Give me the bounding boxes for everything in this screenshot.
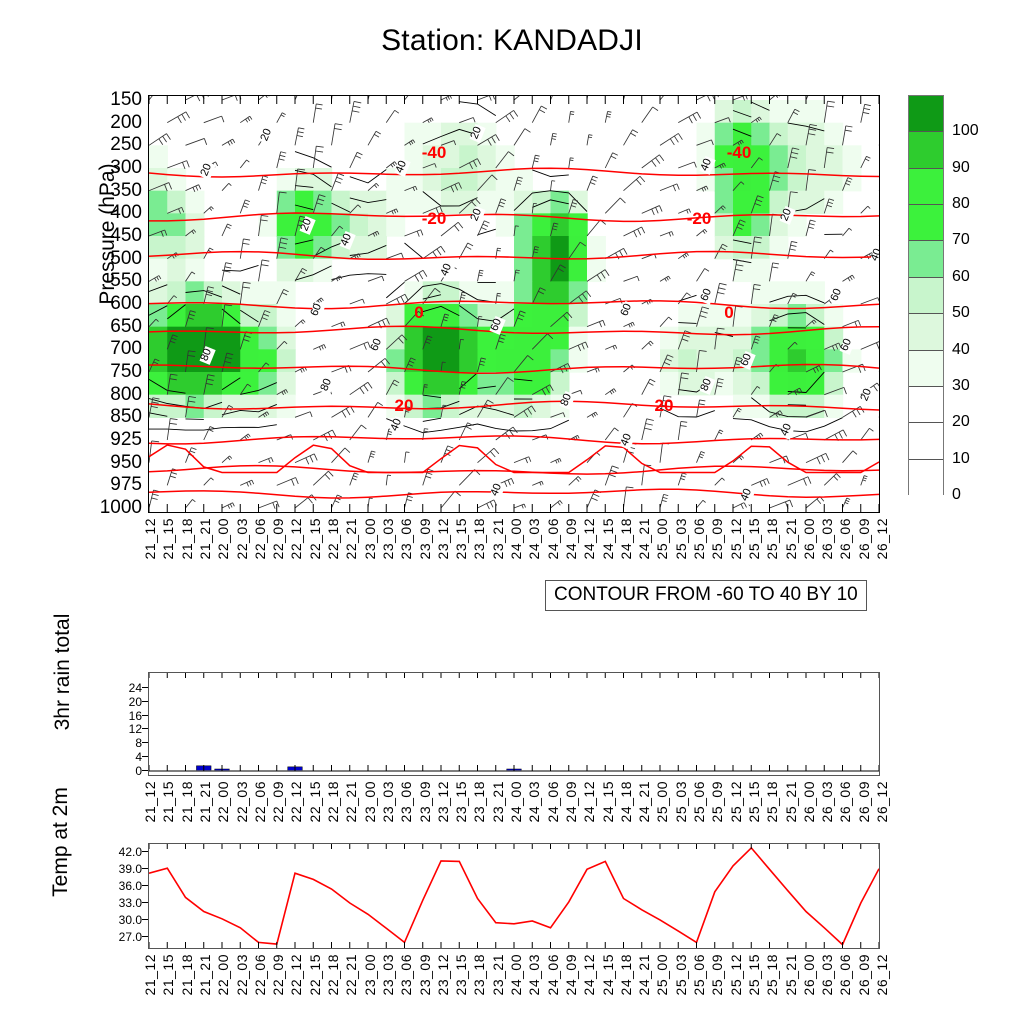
x-tick-label: 25_12 [728,518,744,559]
x-tick-label: 21_21 [197,781,213,822]
colorbar [908,95,944,495]
x-tick-label: 25_03 [673,954,689,995]
tick-mark [142,770,148,771]
tick-mark [142,715,148,716]
x-tick-label: 26_09 [856,954,872,995]
y-tick-label: 16 [96,709,142,723]
colorbar-band [909,460,943,496]
x-tick-label: 26_03 [819,954,835,995]
x-tick-label: 22_03 [234,781,250,822]
x-tick-label: 22_06 [252,954,268,995]
y-tick-label: 250 [82,134,142,156]
x-tick-label: 25_00 [654,781,670,822]
colorbar-tick-label: 20 [952,413,970,431]
y-tick-label: 350 [82,180,142,202]
x-tick-label: 26_09 [856,518,872,559]
x-tick-label: 26_12 [874,781,890,822]
x-tick-label: 21_12 [142,781,158,822]
x-tick-label: 21_12 [142,518,158,559]
x-tick-label: 26_12 [874,954,890,995]
main-y-ticks: 1502002503003504004505005506006507007508… [80,95,142,513]
x-tick-label: 25_18 [764,954,780,995]
x-tick-label: 25_15 [746,518,762,559]
x-tick-label: 21_15 [160,518,176,559]
colorbar-band [909,423,943,459]
x-tick-label: 25_06 [691,954,707,995]
y-tick-label: 450 [82,225,142,247]
y-tick-label: 975 [82,474,142,496]
x-tick-label: 24_12 [581,781,597,822]
x-tick-label: 23_12 [435,518,451,559]
y-tick-label: 42.0 [88,845,142,859]
colorbar-tick-label: 0 [952,486,961,504]
x-tick-label: 24_00 [508,518,524,559]
colorbar-tick-label: 90 [952,159,970,177]
y-tick-label: 33.0 [88,896,142,910]
y-tick-label: 500 [82,248,142,270]
rain-y-axis-label: 3hr rain total [51,607,75,737]
x-tick-label: 23_21 [490,954,506,995]
svg-text:0: 0 [724,303,733,322]
colorbar-band [909,314,943,350]
contour-legend: CONTOUR FROM -60 TO 40 BY 10 [545,580,867,611]
y-tick-label: 200 [82,112,142,134]
colorbar-tick-label: 50 [952,304,970,322]
x-tick-label: 22_00 [215,781,231,822]
x-tick-label: 24_18 [618,954,634,995]
y-tick-label: 850 [82,406,142,428]
x-tick-label: 25_21 [783,954,799,995]
svg-text:-40: -40 [422,143,447,162]
x-tick-label: 22_15 [307,518,323,559]
x-tick-label: 26_09 [856,781,872,822]
rain-plot[interactable] [148,672,880,776]
colorbar-band [909,205,943,241]
x-tick-label: 25_12 [728,781,744,822]
x-tick-label: 23_09 [417,518,433,559]
x-tick-label: 25_18 [764,781,780,822]
x-tick-label: 24_00 [508,954,524,995]
rain-x-ticks: 21_1221_1521_1821_2122_0022_0322_0622_09… [148,781,880,839]
colorbar-band [909,351,943,387]
x-tick-label: 23_06 [398,781,414,822]
tick-mark [142,936,148,937]
x-tick-label: 24_09 [563,954,579,995]
temp-x-ticks: 21_1221_1521_1821_2122_0022_0322_0622_09… [148,954,880,1012]
x-tick-label: 22_00 [215,954,231,995]
x-tick-label: 22_00 [215,518,231,559]
tick-mark [142,728,148,729]
x-tick-label: 23_18 [471,518,487,559]
y-tick-label: 600 [82,293,142,315]
x-tick-label: 25_00 [654,518,670,559]
x-tick-label: 21_15 [160,781,176,822]
tick-mark [142,687,148,688]
y-tick-label: 1000 [82,497,142,519]
x-tick-label: 23_21 [490,781,506,822]
x-tick-label: 24_15 [600,781,616,822]
y-tick-label: 20 [96,695,142,709]
y-tick-label: 650 [82,316,142,338]
y-tick-label: 39.0 [88,862,142,876]
tick-mark [142,851,148,852]
sounding-svg: 2020404020202040406060806060808080604040… [149,96,879,512]
x-tick-label: 26_06 [837,954,853,995]
tick-mark [142,902,148,903]
tick-mark [142,701,148,702]
x-tick-label: 25_03 [673,781,689,822]
x-tick-label: 24_06 [545,781,561,822]
x-tick-label: 25_09 [709,518,725,559]
x-tick-label: 22_12 [288,518,304,559]
y-tick-label: 550 [82,270,142,292]
y-tick-label: 30.0 [88,913,142,927]
x-tick-label: 24_12 [581,518,597,559]
svg-text:20: 20 [395,396,414,415]
tick-mark [142,868,148,869]
x-tick-label: 21_12 [142,954,158,995]
x-tick-label: 23_09 [417,954,433,995]
x-tick-label: 24_18 [618,518,634,559]
y-tick-label: 300 [82,157,142,179]
svg-text:-20: -20 [687,209,712,228]
y-tick-label: 27.0 [88,930,142,944]
x-tick-label: 21_18 [179,518,195,559]
x-tick-label: 24_15 [600,518,616,559]
x-tick-label: 26_00 [801,518,817,559]
page-title: Station: KANDADJI [0,24,1024,58]
x-tick-label: 23_15 [453,518,469,559]
rain-svg [149,673,879,775]
colorbar-band [909,278,943,314]
y-tick-label: 36.0 [88,879,142,893]
x-tick-label: 22_09 [270,954,286,995]
temp-y-ticks: 27.030.033.036.039.042.0 [88,843,142,949]
tick-mark [142,885,148,886]
x-tick-label: 24_06 [545,518,561,559]
x-tick-label: 25_09 [709,781,725,822]
x-tick-label: 22_18 [325,781,341,822]
x-tick-label: 24_15 [600,954,616,995]
x-tick-label: 23_00 [362,781,378,822]
y-tick-label: 925 [82,429,142,451]
colorbar-band [909,241,943,277]
x-tick-label: 23_06 [398,954,414,995]
colorbar-tick-label: 40 [952,341,970,359]
x-tick-label: 23_09 [417,781,433,822]
temp-svg [149,844,879,948]
x-tick-label: 24_03 [526,954,542,995]
y-tick-label: 8 [96,736,142,750]
x-tick-label: 25_09 [709,954,725,995]
temp-y-axis-label: Temp at 2m [49,767,73,917]
x-tick-label: 24_21 [636,518,652,559]
x-tick-label: 23_21 [490,518,506,559]
y-tick-label: 150 [82,89,142,111]
x-tick-label: 22_09 [270,781,286,822]
rain-y-ticks: 04812162024 [96,672,142,776]
x-tick-label: 25_06 [691,518,707,559]
rh-sounding-plot[interactable]: 2020404020202040406060806060808080604040… [148,95,880,513]
x-tick-label: 22_18 [325,518,341,559]
x-tick-label: 22_18 [325,954,341,995]
x-tick-label: 25_06 [691,781,707,822]
x-tick-label: 22_21 [343,781,359,822]
x-tick-label: 22_03 [234,954,250,995]
x-tick-label: 22_06 [252,781,268,822]
tick-mark [142,919,148,920]
y-tick-label: 950 [82,452,142,474]
x-tick-label: 22_21 [343,518,359,559]
x-tick-label: 24_09 [563,781,579,822]
x-tick-label: 25_21 [783,781,799,822]
x-tick-label: 25_21 [783,518,799,559]
x-tick-label: 24_00 [508,781,524,822]
x-tick-label: 22_21 [343,954,359,995]
y-tick-label: 24 [96,681,142,695]
temp-plot[interactable] [148,843,880,949]
y-tick-label: 800 [82,384,142,406]
x-tick-label: 21_21 [197,518,213,559]
colorbar-tick-label: 80 [952,195,970,213]
y-tick-label: 400 [82,202,142,224]
x-tick-label: 22_12 [288,781,304,822]
x-tick-label: 21_18 [179,781,195,822]
y-tick-label: 12 [96,722,142,736]
x-tick-label: 22_15 [307,781,323,822]
x-tick-label: 23_18 [471,954,487,995]
y-tick-label: 750 [82,361,142,383]
x-tick-label: 24_21 [636,781,652,822]
x-tick-label: 24_21 [636,954,652,995]
colorbar-tick-label: 10 [952,450,970,468]
x-tick-label: 26_03 [819,518,835,559]
x-tick-label: 24_18 [618,781,634,822]
y-tick-label: 4 [96,750,142,764]
x-tick-label: 23_15 [453,954,469,995]
x-tick-label: 25_18 [764,518,780,559]
svg-text:20: 20 [655,396,674,415]
svg-text:-20: -20 [422,209,447,228]
x-tick-label: 22_12 [288,954,304,995]
colorbar-band [909,387,943,423]
x-tick-label: 23_06 [398,518,414,559]
tick-mark [142,742,148,743]
x-tick-label: 24_12 [581,954,597,995]
x-tick-label: 24_06 [545,954,561,995]
x-tick-label: 25_15 [746,954,762,995]
colorbar-band [909,96,943,132]
x-tick-label: 25_00 [654,954,670,995]
x-tick-label: 26_06 [837,781,853,822]
x-tick-label: 21_18 [179,954,195,995]
colorbar-tick-label: 60 [952,268,970,286]
x-tick-label: 25_12 [728,954,744,995]
x-tick-label: 25_15 [746,781,762,822]
tick-mark [142,756,148,757]
x-tick-label: 23_03 [380,954,396,995]
x-tick-label: 23_18 [471,781,487,822]
x-tick-label: 23_12 [435,954,451,995]
x-tick-label: 22_15 [307,954,323,995]
x-tick-label: 22_09 [270,518,286,559]
x-tick-label: 24_09 [563,518,579,559]
x-tick-label: 21_21 [197,954,213,995]
x-tick-label: 23_15 [453,781,469,822]
colorbar-tick-label: 30 [952,377,970,395]
x-tick-label: 23_00 [362,954,378,995]
x-tick-label: 23_00 [362,518,378,559]
colorbar-band [909,132,943,168]
x-tick-label: 24_03 [526,518,542,559]
x-tick-label: 22_06 [252,518,268,559]
x-tick-label: 24_03 [526,781,542,822]
x-tick-label: 26_06 [837,518,853,559]
colorbar-tick-label: 100 [952,122,979,140]
svg-text:-40: -40 [727,143,752,162]
x-tick-label: 26_03 [819,781,835,822]
main-x-ticks: 21_1221_1521_1821_2122_0022_0322_0622_09… [148,518,880,576]
svg-text:0: 0 [414,303,423,322]
colorbar-tick-label: 70 [952,231,970,249]
x-tick-label: 26_00 [801,781,817,822]
x-tick-label: 25_03 [673,518,689,559]
y-tick-label: 700 [82,338,142,360]
x-tick-label: 23_12 [435,781,451,822]
x-tick-label: 26_00 [801,954,817,995]
x-tick-label: 23_03 [380,781,396,822]
x-tick-label: 22_03 [234,518,250,559]
colorbar-band [909,169,943,205]
x-tick-label: 21_15 [160,954,176,995]
y-tick-label: 0 [96,764,142,778]
x-tick-label: 26_12 [874,518,890,559]
x-tick-label: 23_03 [380,518,396,559]
